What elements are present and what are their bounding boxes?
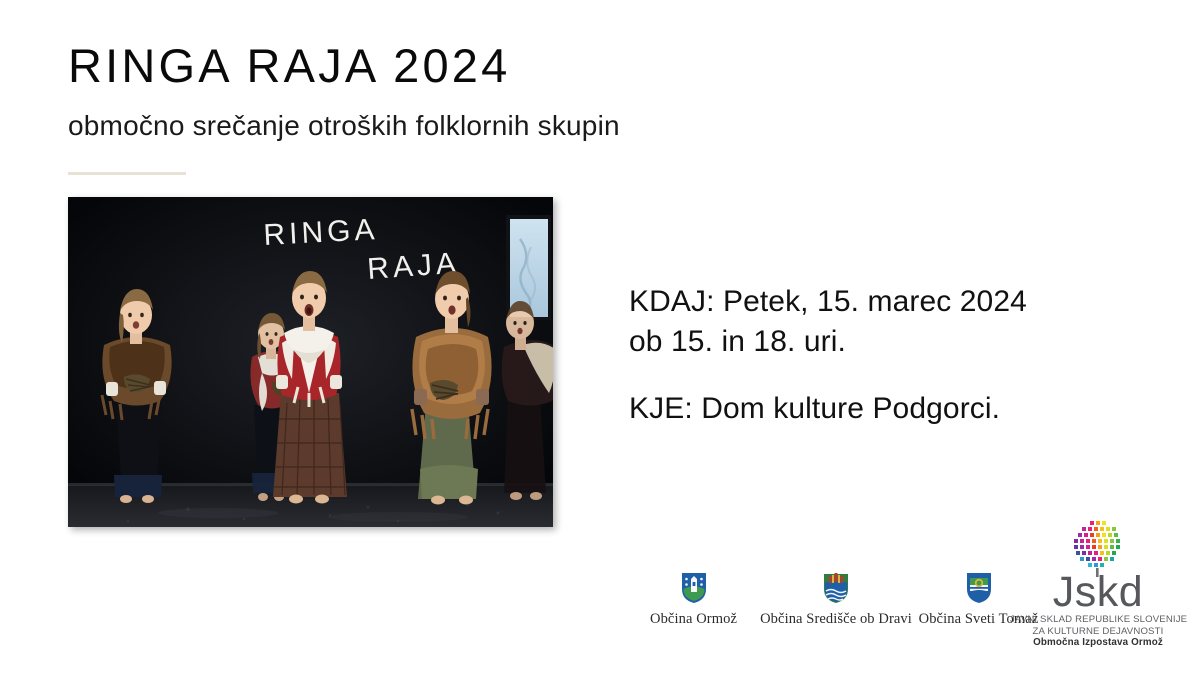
paragraph-spacer: [629, 361, 1169, 389]
jskd-wordmark: Jskd: [1010, 574, 1186, 612]
stage-photo-illustration: RINGA RAJA: [68, 197, 553, 527]
sponsor-label: Občina Ormož: [650, 611, 737, 628]
stage-photo: RINGA RAJA: [68, 197, 553, 527]
sponsor-label: Občina Središče ob Dravi: [760, 611, 912, 628]
event-when-line-1: KDAJ: Petek, 15. marec 2024: [629, 282, 1169, 322]
sponsor-logo-bar: Občina Ormož Občina Središče ob Dravi: [626, 572, 1046, 628]
svg-text:RINGA: RINGA: [263, 213, 380, 252]
page-subtitle: območno srečanje otroških folklornih sku…: [68, 109, 620, 143]
event-details: KDAJ: Petek, 15. marec 2024 ob 15. in 18…: [629, 282, 1169, 429]
jskd-line-1: JAVNI SKLAD REPUBLIKE SLOVENIJE: [1010, 614, 1186, 626]
event-when-line-2: ob 15. in 18. uri.: [629, 322, 1169, 362]
sponsor-ormoz: Občina Ormož: [626, 572, 761, 628]
sponsor-sredisce-ob-dravi: Občina Središče ob Dravi: [761, 572, 911, 628]
event-where-line: KJE: Dom kulture Podgorci.: [629, 389, 1169, 429]
crest-ormoz-icon: [681, 572, 707, 604]
accent-divider: [68, 172, 186, 175]
jskd-line-3: Območna Izpostava Ormož: [1010, 637, 1186, 649]
crest-sredisce-ob-dravi-icon: [823, 572, 849, 604]
page-title: RINGA RAJA 2024: [68, 41, 510, 90]
jskd-line-2: ZA KULTURNE DEJAVNOSTI: [1010, 626, 1186, 638]
presentation-slide: RINGA RAJA 2024 območno srečanje otroški…: [0, 0, 1200, 675]
jskd-logo: Jskd JAVNI SKLAD REPUBLIKE SLOVENIJE ZA …: [1010, 519, 1186, 649]
crest-sveti-tomaz-icon: [966, 572, 992, 604]
